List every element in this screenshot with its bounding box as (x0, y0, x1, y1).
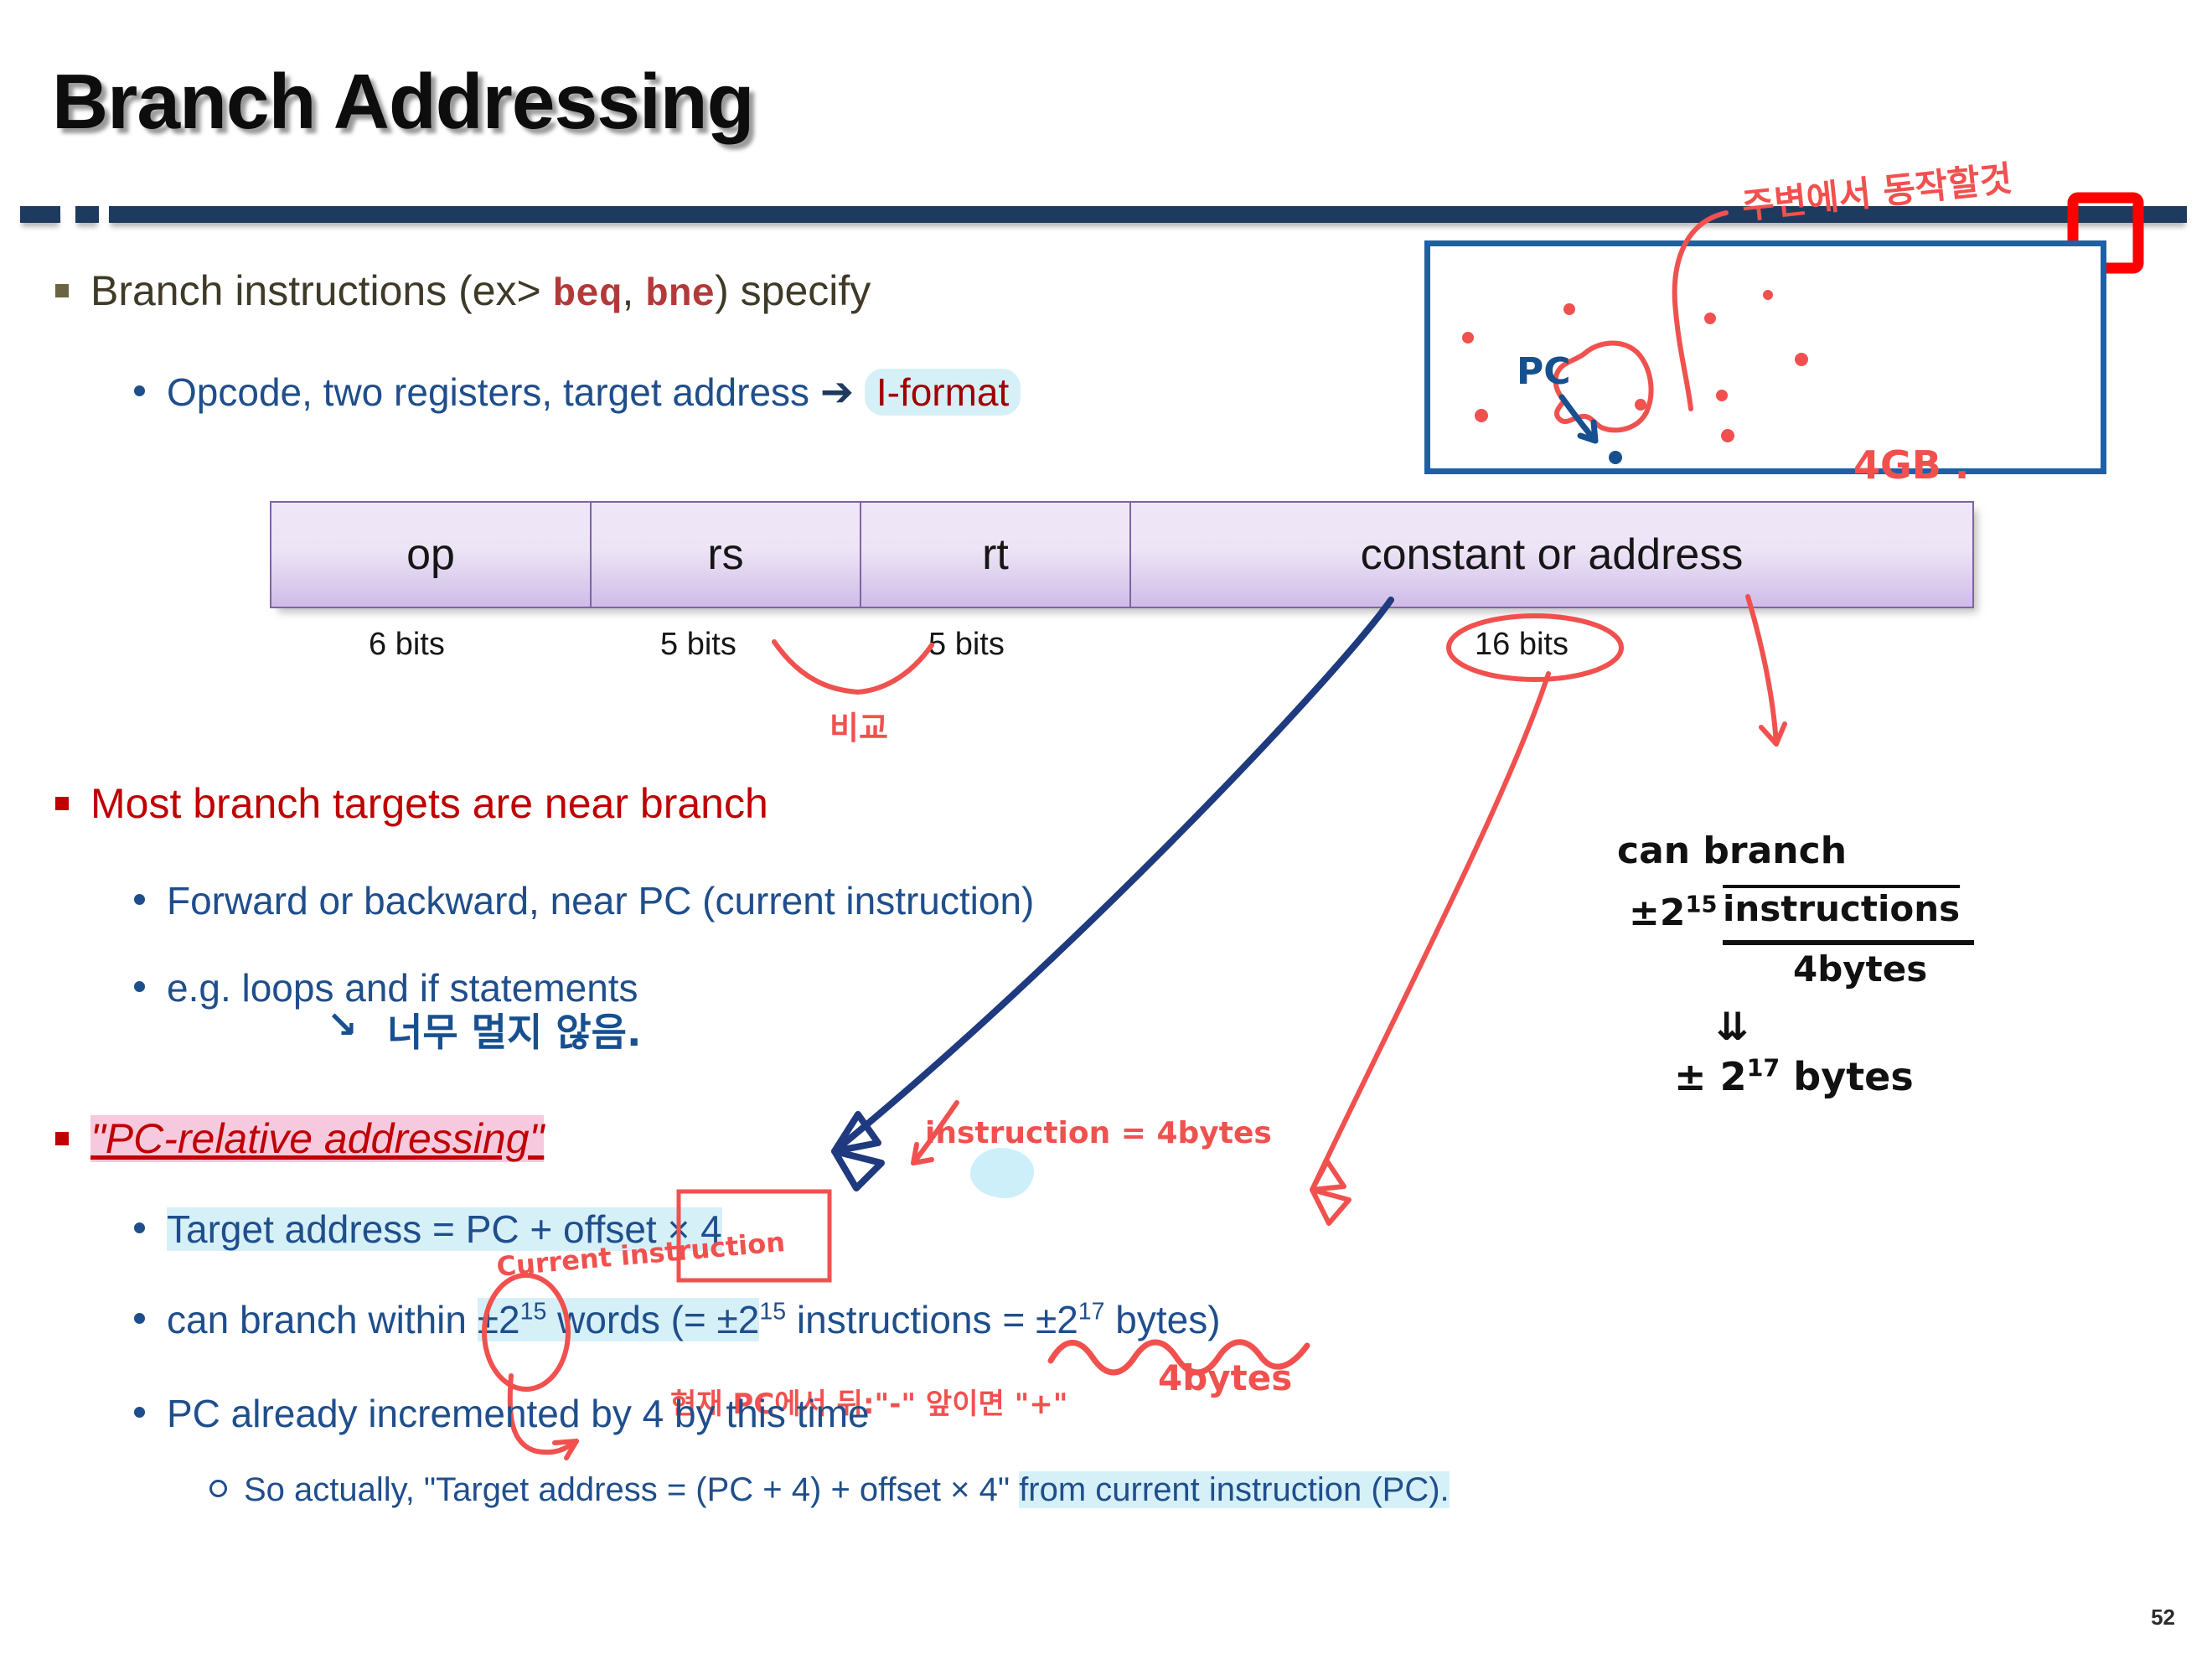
square-bullet-icon (55, 1132, 69, 1145)
sub-bullet-text: Opcode, two registers, target address (167, 370, 809, 414)
instructions-text: instructions = ±2 (786, 1298, 1078, 1341)
annotation-instruction-equals-4bytes: instruction = 4bytes (925, 1116, 1272, 1150)
instr-exp: 15 (759, 1299, 786, 1326)
field-cell-rt: rt (860, 501, 1129, 608)
pm-base: ±2 (1629, 892, 1685, 934)
round-bullet-icon (134, 981, 145, 992)
bullet-pc-already-incremented: PC already incremented by 4 by this time (134, 1391, 870, 1436)
field-cell-op: op (270, 501, 590, 608)
bullet-text-pre: Branch instructions (ex> (90, 267, 553, 314)
bits-label-op: 6 bits (369, 627, 445, 663)
divider-dash-2 (75, 206, 99, 223)
bits-label-rs: 5 bits (660, 627, 736, 663)
can-branch-pre: can branch within (167, 1298, 478, 1341)
pm-unit: bytes (1793, 1054, 1913, 1099)
field-cell-constant: constant or address (1129, 501, 1974, 608)
pm-2-exp: 15 (520, 1299, 547, 1326)
annotation-pc-label: PC (1517, 350, 1571, 393)
instruction-format-table: op rs rt constant or address (270, 501, 1974, 608)
round-bullet-icon (134, 1222, 145, 1233)
bullet-pc-relative-addressing: "PC-relative addressing" (55, 1114, 544, 1163)
i-format-badge: I-format (865, 369, 1021, 416)
bullet-most-branch-targets: Most branch targets are near branch (55, 779, 768, 828)
square-bullet-icon (55, 797, 69, 810)
annotation-4gb: 4GB . (1853, 442, 1969, 488)
words-paren: words (= ±2 (546, 1298, 759, 1341)
annotation-double-down-arrow-icon: ⇊ (1716, 1004, 1749, 1049)
sub-bullet-text: Forward or backward, near PC (current in… (167, 879, 1034, 923)
annotation-arrow-down-right-icon: ↘ (327, 1004, 358, 1047)
fraction-bar (1723, 940, 1974, 945)
code-bne: bne (645, 273, 715, 317)
so-actually-pre: So actually, "Target address = (PC + 4) … (244, 1471, 1019, 1508)
code-beq: beq (553, 273, 623, 317)
bullet-branch-instructions: Branch instructions (ex> beq, bne) speci… (55, 266, 871, 317)
round-bullet-icon (134, 385, 145, 396)
round-bullet-icon (134, 1313, 145, 1324)
divider-dash-1 (20, 206, 60, 223)
bits-label-rt: 5 bits (928, 627, 1005, 663)
annotation-bigyo: 비교 (829, 702, 888, 748)
target-address-pre: Target address = PC + (167, 1207, 563, 1251)
red-long-arrow-icon (1257, 670, 1609, 1257)
red-arrow-to-can-branch-icon (1693, 593, 1827, 803)
so-actually-highlight: from current instruction (PC). (1019, 1471, 1449, 1508)
compare-brace-icon (771, 637, 938, 704)
bullet-so-actually: So actually, "Target address = (PC + 4) … (209, 1471, 1450, 1509)
pm-exp: 15 (1685, 892, 1717, 917)
pm-2-15-words: ±215 words (= ±2 (478, 1298, 760, 1341)
field-cell-rs: rs (590, 501, 860, 608)
annotation-instructions-numerator: instructions (1723, 888, 1960, 929)
pm-sign: ± (1674, 1054, 1707, 1099)
bullet-text-post: ) specify (715, 267, 871, 314)
bullet-can-branch-within: can branch within ±215 words (= ±215 ins… (134, 1297, 1221, 1342)
annotation-not-too-far: 너무 멀지 않음. (387, 1002, 641, 1057)
page-title: Branch Addressing (52, 57, 753, 147)
bullet-text-mid: , (622, 267, 645, 314)
annotation-can-branch: can branch (1617, 829, 1847, 872)
annotation-pm-2-15: ±215 (1629, 892, 1717, 934)
round-bullet-icon (134, 1407, 145, 1418)
round-bullet-icon (134, 894, 145, 905)
bullet-text: "PC-relative addressing" (90, 1115, 544, 1162)
square-bullet-icon (55, 284, 69, 297)
page-number: 52 (2151, 1605, 2175, 1631)
cyan-blob-highlight (970, 1148, 1034, 1198)
right-arrow-icon: ➔ (820, 370, 854, 415)
hollow-circle-bullet-icon (209, 1480, 227, 1497)
slide-root: Branch Addressing Branch instructions (e… (0, 0, 2212, 1659)
bytes-text: bytes) (1105, 1298, 1221, 1341)
sub-bullet-text: PC already incremented by 4 by this time (167, 1392, 870, 1435)
pm-2-base: ±2 (478, 1298, 520, 1341)
annotation-pm-2-17-bytes: ± 217 bytes (1674, 1054, 1914, 1099)
bullet-forward-backward: Forward or backward, near PC (current in… (134, 878, 1034, 923)
annotation-4bytes-lower: 4bytes (1158, 1357, 1292, 1398)
annotation-4bytes-denominator: 4bytes (1793, 948, 1927, 990)
bits-label-constant: 16 bits (1475, 627, 1569, 663)
bullet-opcode-registers: Opcode, two registers, target address ➔ … (134, 369, 1021, 416)
bytes-exp: 17 (1078, 1299, 1105, 1326)
pm-base: 2 (1720, 1054, 1747, 1099)
bullet-text: Most branch targets are near branch (90, 780, 768, 827)
pm-exp: 17 (1747, 1055, 1780, 1083)
